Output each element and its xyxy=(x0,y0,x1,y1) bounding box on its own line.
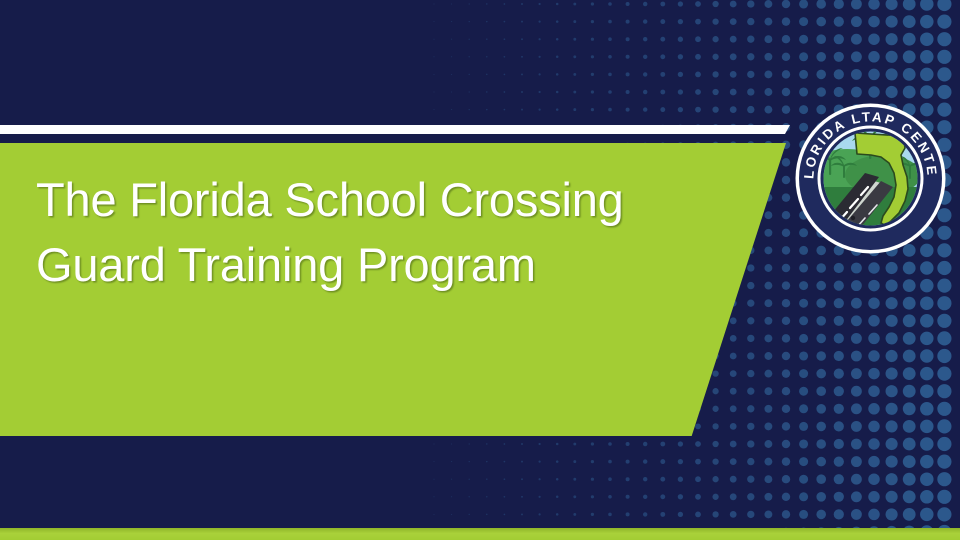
title-line-1: The Florida School Crossing xyxy=(36,168,736,233)
white-accent-strip xyxy=(0,125,790,134)
page-title: The Florida School Crossing Guard Traini… xyxy=(36,168,736,298)
title-line-2: Guard Training Program xyxy=(36,233,736,298)
bottom-accent-bar xyxy=(0,528,960,540)
florida-ltap-center-logo: FLORIDA LTAP CENTER xyxy=(795,103,946,254)
presentation-slide: The Florida School Crossing Guard Traini… xyxy=(0,0,960,540)
